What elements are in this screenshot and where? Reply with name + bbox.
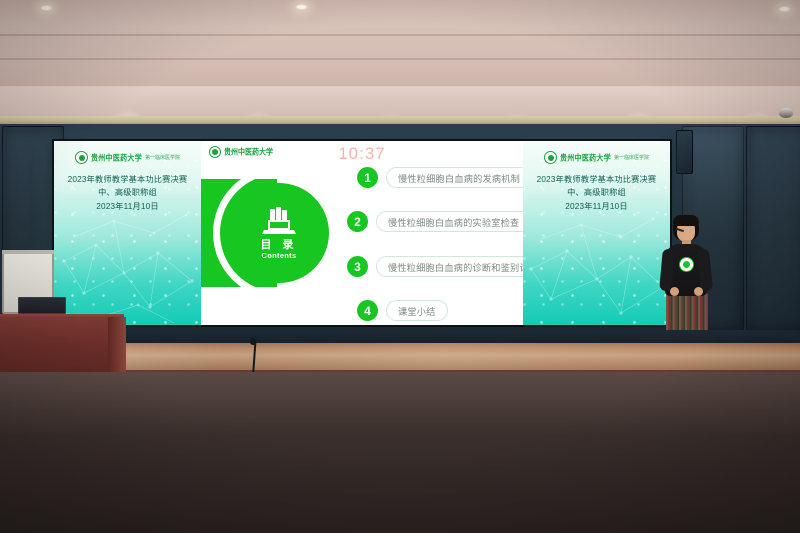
audience-area: 第2排	[0, 372, 800, 533]
list-item-label: 慢性粒细胞白血病的实验室检查	[376, 211, 523, 232]
downlight-icon	[778, 6, 791, 12]
presentation-slide: 贵州中医药大学 10:37	[201, 141, 523, 325]
led-screen: 贵州中医药大学 第一临床医学院 2023年教师教学基本功比赛决赛 中、高级职称组…	[52, 139, 672, 327]
list-item-number: 4	[357, 300, 378, 321]
ceiling-seam	[0, 58, 800, 60]
logo-wordmark: 贵州中医药大学	[91, 152, 142, 164]
panel-title-line-3: 2023年11月10日	[62, 200, 193, 213]
downlight-icon	[40, 5, 53, 11]
presenter-badge	[679, 257, 694, 272]
screen-left-title-panel: 贵州中医药大学 第一临床医学院 2023年教师教学基本功比赛决赛 中、高级职称组…	[54, 141, 201, 325]
wall-speaker	[676, 130, 693, 174]
logo-wordmark: 贵州中医药大学	[560, 152, 611, 164]
panel-title-line-2: 中、高级职称组	[62, 186, 193, 199]
list-item-number: 2	[347, 211, 368, 232]
presenter-fringe	[673, 215, 699, 226]
list-item[interactable]: 4 课堂小结	[357, 300, 448, 321]
lecture-hall-photo: 贵州中医药大学 第一临床医学院 2023年教师教学基本功比赛决赛 中、高级职称组…	[0, 0, 800, 533]
university-logo: 贵州中医药大学 第一临床医学院	[531, 151, 662, 164]
wall-panel	[746, 126, 800, 332]
list-item-label: 慢性粒细胞白血病的诊断和鉴别诊断	[376, 256, 523, 277]
logo-subtext: 第一临床医学院	[614, 154, 649, 161]
list-item-label: 慢性粒细胞白血病的发病机制	[386, 167, 523, 188]
contents-title-cn: 目 录	[260, 239, 297, 251]
ceiling-camera-icon	[778, 104, 794, 118]
downlight-icon	[295, 4, 308, 10]
contents-list: 1 慢性粒细胞白血病的发病机制 2 慢性粒细胞白血病的实验室检查 3 慢性粒细胞…	[337, 163, 517, 321]
slide-clock: 10:37	[201, 144, 523, 164]
screen-right-title-panel: 贵州中医药大学 第一临床医学院 2023年教师教学基本功比赛决赛 中、高级职称组…	[523, 141, 670, 325]
university-logo: 贵州中医药大学 第一临床医学院	[62, 151, 193, 164]
presenter-hand-left	[670, 287, 679, 296]
panel-title-line-1: 2023年教师教学基本功比赛决赛	[62, 173, 193, 186]
panel-title-line-1: 2023年教师教学基本功比赛决赛	[531, 173, 662, 186]
whiteboard-frame	[2, 250, 54, 254]
list-item-number: 1	[357, 167, 378, 188]
list-item[interactable]: 2 慢性粒细胞白血病的实验室检查	[347, 211, 523, 232]
contents-title-en: Contents	[262, 251, 297, 260]
list-item[interactable]: 3 慢性粒细胞白血病的诊断和鉴别诊断	[347, 256, 523, 277]
contents-badge: 目 录 Contents	[229, 183, 329, 283]
university-seal-icon	[544, 151, 557, 164]
list-item-label: 课堂小结	[386, 300, 448, 321]
ceiling-seam	[0, 34, 800, 36]
laptop-screen	[18, 297, 66, 314]
panel-title-line-3: 2023年11月10日	[531, 200, 662, 213]
books-laptop-icon	[259, 206, 299, 237]
list-item-number: 3	[347, 256, 368, 277]
ceiling-soffit	[0, 86, 800, 118]
logo-subtext: 第一临床医学院	[145, 154, 180, 161]
university-seal-icon	[75, 151, 88, 164]
panel-title-line-2: 中、高级职称组	[531, 186, 662, 199]
list-item[interactable]: 1 慢性粒细胞白血病的发病机制	[357, 167, 523, 188]
presenter-hand-right	[694, 287, 703, 296]
